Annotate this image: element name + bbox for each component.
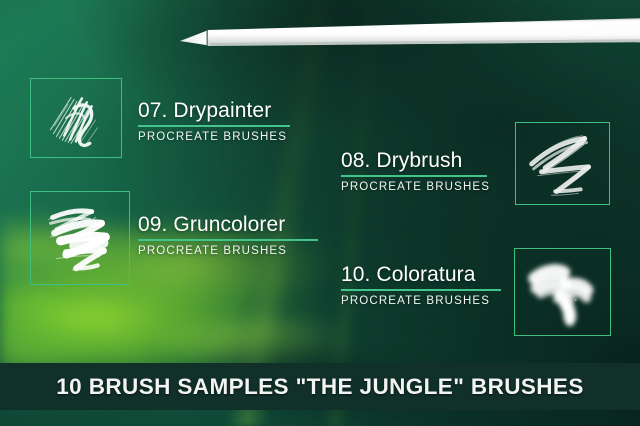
brush-subtitle: PROCREATE BRUSHES: [138, 245, 318, 257]
brush-swatch-frame-coloratura[interactable]: [514, 248, 611, 336]
title-underline: [341, 175, 487, 177]
brush-title: 10. Coloratura: [341, 264, 501, 286]
brush-subtitle: PROCREATE BRUSHES: [341, 295, 501, 307]
brush-title: 09. Gruncolorer: [138, 214, 318, 236]
banner-title: 10 BRUSH SAMPLES "THE JUNGLE" BRUSHES: [56, 374, 583, 400]
coloratura-brush-sample: [515, 249, 610, 335]
brush-swatch-frame-drypainter[interactable]: [30, 78, 122, 158]
title-underline: [138, 239, 318, 241]
brush-title: 08. Drybrush: [341, 150, 490, 172]
bottom-banner: 10 BRUSH SAMPLES "THE JUNGLE" BRUSHES: [0, 363, 640, 410]
drypainter-brush-sample: [31, 79, 121, 157]
brush-label-coloratura: 10. Coloratura PROCREATE BRUSHES: [341, 264, 501, 307]
drybrush-brush-sample: [516, 123, 609, 204]
brush-pack-poster: 07. Drypainter PROCREATE BRUSHES: [0, 0, 640, 426]
brush-label-drybrush: 08. Drybrush PROCREATE BRUSHES: [341, 150, 490, 193]
brush-subtitle: PROCREATE BRUSHES: [138, 131, 290, 143]
brush-subtitle: PROCREATE BRUSHES: [341, 181, 490, 193]
brush-label-gruncolorer: 09. Gruncolorer PROCREATE BRUSHES: [138, 214, 318, 257]
brush-swatch-frame-drybrush[interactable]: [515, 122, 610, 205]
brush-swatch-frame-gruncolorer[interactable]: [30, 191, 130, 285]
title-underline: [138, 125, 290, 127]
title-underline: [341, 289, 501, 291]
brush-title: 07. Drypainter: [138, 100, 290, 122]
gruncolorer-brush-sample: [31, 192, 129, 284]
brush-label-drypainter: 07. Drypainter PROCREATE BRUSHES: [138, 100, 290, 143]
